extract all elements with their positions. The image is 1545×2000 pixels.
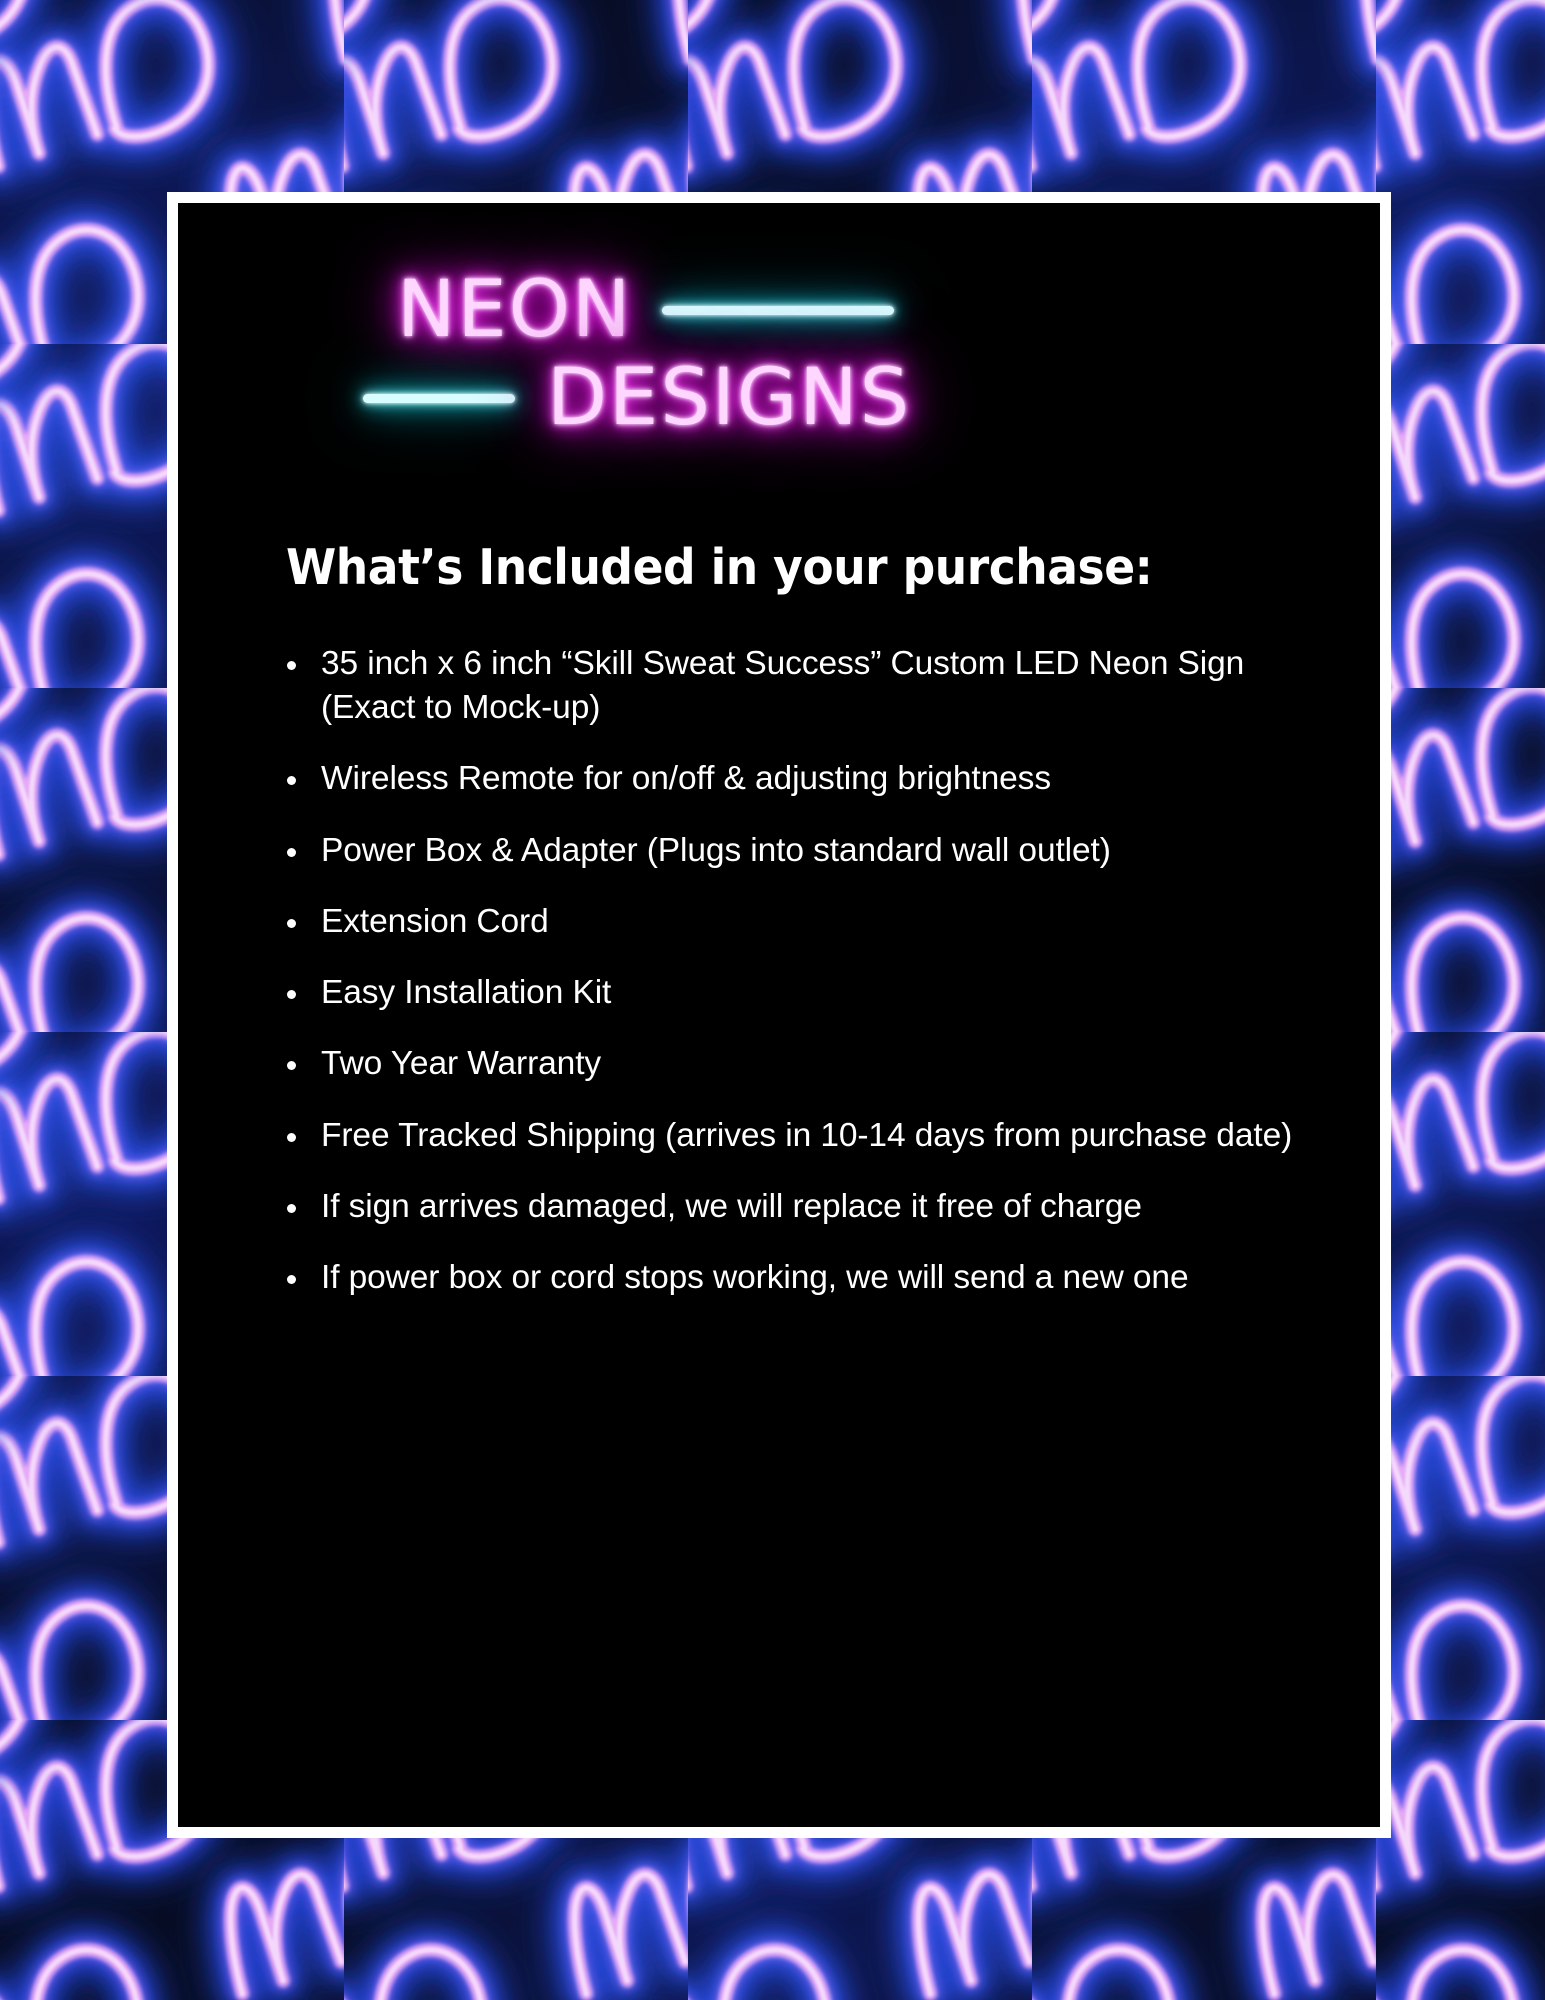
list-item: Free Tracked Shipping (arrives in 10-14 … — [284, 1114, 1310, 1158]
list-item: Easy Installation Kit — [284, 971, 1310, 1015]
cyan-neon-bar-bottom — [363, 394, 515, 403]
neon-designs-logo: NEON DESIGNS — [178, 251, 1380, 501]
page-title: What’s Included in your purchase: — [286, 539, 1303, 596]
logo-line-designs: DESIGNS — [363, 361, 911, 435]
list-item: Wireless Remote for on/off & adjusting b… — [284, 757, 1310, 801]
list-item: Two Year Warranty — [284, 1042, 1310, 1086]
list-item: Power Box & Adapter (Plugs into standard… — [284, 829, 1310, 873]
logo-line-neon: NEON — [397, 273, 894, 347]
card-content-panel: NEON DESIGNS What’s Included in your pur… — [178, 203, 1380, 1827]
list-item: Extension Cord — [284, 900, 1310, 944]
list-item: If power box or cord stops working, we w… — [284, 1256, 1310, 1300]
white-framed-card: NEON DESIGNS What’s Included in your pur… — [167, 192, 1391, 1838]
cyan-neon-bar-top — [662, 306, 894, 315]
neon-designs-product-info-page: NEON DESIGNS What’s Included in your pur… — [0, 0, 1545, 2000]
list-item: 35 inch x 6 inch “Skill Sweat Success” C… — [284, 642, 1310, 730]
logo-word-designs: DESIGNS — [547, 361, 911, 435]
list-item: If sign arrives damaged, we will replace… — [284, 1185, 1310, 1229]
logo-word-neon: NEON — [397, 273, 632, 347]
included-items-list: 35 inch x 6 inch “Skill Sweat Success” C… — [178, 642, 1380, 1300]
